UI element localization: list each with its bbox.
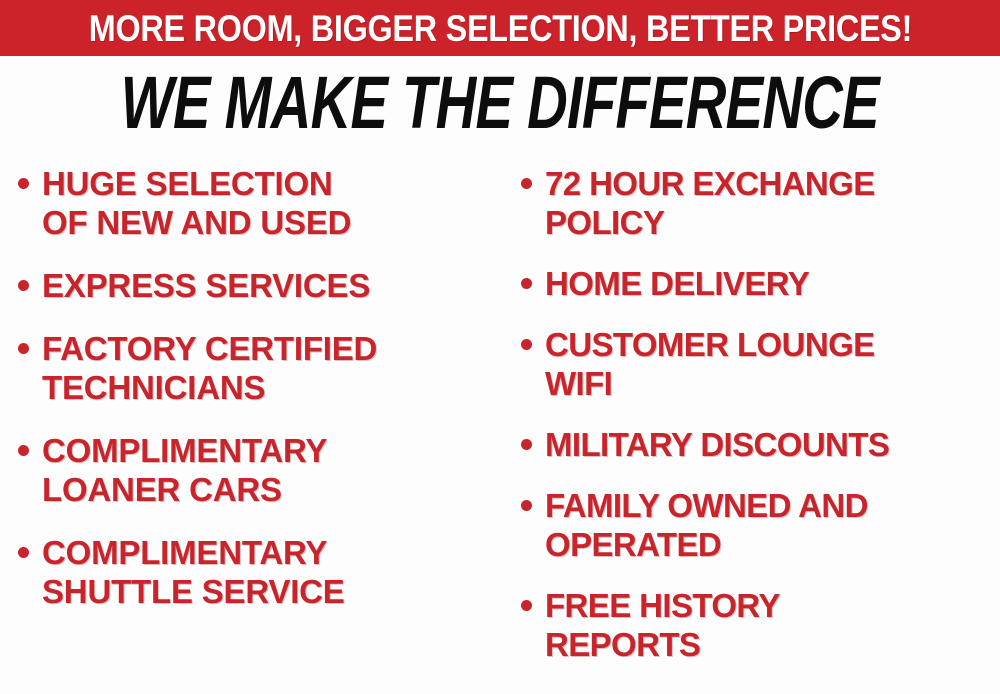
list-item-label: 72 HOUR EXCHANGE POLICY [545,164,875,242]
bullet-dot-icon [18,178,29,189]
promo-banner: MORE ROOM, BIGGER SELECTION, BETTER PRIC… [0,0,1000,56]
list-item-label: MILITARY DISCOUNTS [545,425,889,464]
promo-banner-text: MORE ROOM, BIGGER SELECTION, BETTER PRIC… [88,10,911,47]
bullet-dot-icon [521,178,532,189]
list-item: MILITARY DISCOUNTS [521,425,1000,464]
bullet-dot-icon [521,600,532,611]
bullet-dot-icon [521,500,532,511]
headline: WE MAKE THE DIFFERENCE [0,66,1000,140]
list-item-label: EXPRESS SERVICES [42,266,370,305]
benefits-column-right: 72 HOUR EXCHANGE POLICY HOME DELIVERY CU… [505,152,1000,694]
list-item: HUGE SELECTION OF NEW AND USED [18,164,505,242]
list-item: FREE HISTORY REPORTS [521,586,1000,664]
list-item: FAMILY OWNED AND OPERATED [521,486,1000,564]
bullet-dot-icon [18,343,29,354]
list-item: FACTORY CERTIFIED TECHNICIANS [18,329,505,407]
list-item-label: COMPLIMENTARY LOANER CARS [42,431,327,509]
advertisement-poster: MORE ROOM, BIGGER SELECTION, BETTER PRIC… [0,0,1000,694]
list-item-label: FAMILY OWNED AND OPERATED [545,486,868,564]
list-item: 72 HOUR EXCHANGE POLICY [521,164,1000,242]
list-item: CUSTOMER LOUNGE WIFI [521,325,1000,403]
list-item-label: CUSTOMER LOUNGE WIFI [545,325,875,403]
bullet-dot-icon [18,547,29,558]
list-item-label: HOME DELIVERY [545,264,809,303]
benefits-column-left: HUGE SELECTION OF NEW AND USED EXPRESS S… [0,152,505,694]
list-item-label: FACTORY CERTIFIED TECHNICIANS [42,329,377,407]
bullet-dot-icon [521,278,532,289]
list-item: EXPRESS SERVICES [18,266,505,305]
bullet-dot-icon [18,280,29,291]
bullet-dot-icon [521,339,532,350]
bullet-dot-icon [18,445,29,456]
headline-text: WE MAKE THE DIFFERENCE [121,66,879,140]
list-item: HOME DELIVERY [521,264,1000,303]
list-item: COMPLIMENTARY SHUTTLE SERVICE [18,533,505,611]
list-item-label: FREE HISTORY REPORTS [545,586,780,664]
list-item: COMPLIMENTARY LOANER CARS [18,431,505,509]
benefits-columns: HUGE SELECTION OF NEW AND USED EXPRESS S… [0,152,1000,694]
bullet-dot-icon [521,439,532,450]
list-item-label: HUGE SELECTION OF NEW AND USED [42,164,351,242]
list-item-label: COMPLIMENTARY SHUTTLE SERVICE [42,533,345,611]
